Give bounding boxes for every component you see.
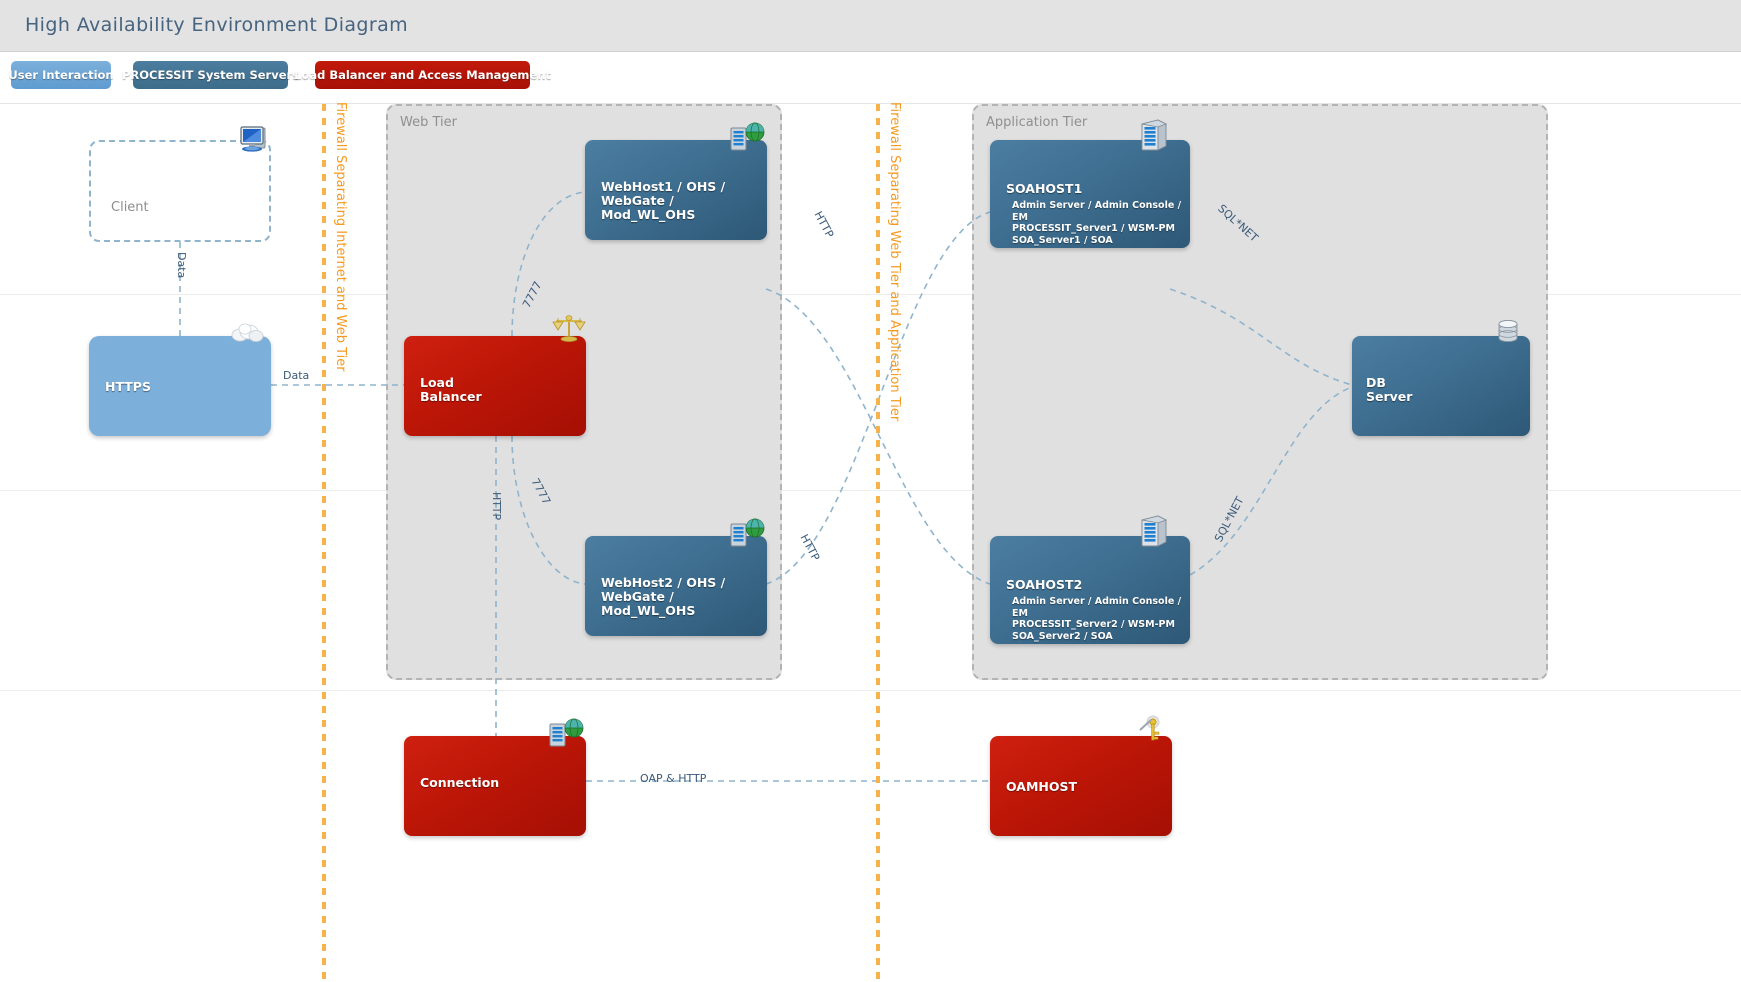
- node-soahost1[interactable]: SOAHOST1 Admin Server / Admin Console / …: [990, 140, 1190, 248]
- web-server-icon: [729, 518, 767, 548]
- database-icon: [1494, 318, 1522, 346]
- node-soahost2-label: SOAHOST2: [1006, 578, 1082, 592]
- legend-item-load-balancer-access-management[interactable]: Load Balancer and Access Management: [315, 61, 530, 89]
- legend-bar: User Interaction PROCESSIT System Server…: [0, 52, 1741, 104]
- server-rack-icon: [1136, 514, 1170, 548]
- cloud-icon: [229, 320, 265, 344]
- desktop-computer-icon: [239, 124, 275, 158]
- legend-item-user-interaction[interactable]: User Interaction: [11, 61, 111, 89]
- client-label: Client: [111, 200, 149, 215]
- node-load-balancer[interactable]: Load Balancer: [404, 336, 586, 436]
- edge-label-lb-to-connection-protocol: HTTP: [490, 492, 503, 520]
- title-bar: High Availability Environment Diagram: [0, 0, 1741, 52]
- node-soahost2[interactable]: SOAHOST2 Admin Server / Admin Console / …: [990, 536, 1190, 644]
- node-connection[interactable]: Connection: [404, 736, 586, 836]
- node-oamhost-label: OAMHOST: [1006, 780, 1077, 794]
- web-server-icon: [548, 718, 586, 748]
- client-box[interactable]: Client: [89, 140, 271, 242]
- diagram-page: High Availability Environment Diagram Us…: [0, 0, 1741, 982]
- node-webhost1[interactable]: WebHost1 / OHS / WebGate / Mod_WL_OHS: [585, 140, 767, 240]
- web-server-icon: [729, 122, 767, 152]
- node-soahost2-services: Admin Server / Admin Console / EM PROCES…: [1012, 596, 1190, 642]
- edge-label-client-to-https: Data: [175, 252, 188, 278]
- page-title: High Availability Environment Diagram: [25, 14, 408, 36]
- diagram-canvas: Web Tier Application Tier: [0, 104, 1741, 982]
- node-https[interactable]: HTTPS: [89, 336, 271, 436]
- firewall-internet-web-tier-label: Firewall Separating Internet and Web Tie…: [333, 102, 348, 372]
- node-soahost1-label: SOAHOST1: [1006, 182, 1082, 196]
- node-https-label: HTTPS: [105, 380, 151, 394]
- node-oamhost[interactable]: OAMHOST: [990, 736, 1172, 836]
- node-soahost1-services: Admin Server / Admin Console / EM PROCES…: [1012, 200, 1190, 246]
- firewall-internet-web-tier-line: [322, 104, 326, 982]
- firewall-web-app-tier-label: Firewall Separating Web Tier and Applica…: [887, 102, 902, 421]
- edge-label-connection-to-oamhost-protocol: OAP & HTTP: [640, 772, 706, 785]
- edge-label-https-to-load-balancer: Data: [283, 369, 309, 382]
- key-icon: [1136, 714, 1166, 744]
- node-db-server-label: DB Server: [1366, 376, 1412, 404]
- legend-item-processit-system-servers[interactable]: PROCESSIT System Servers: [133, 61, 288, 89]
- node-webhost2-label: WebHost2 / OHS / WebGate / Mod_WL_OHS: [601, 576, 767, 618]
- node-webhost1-label: WebHost1 / OHS / WebGate / Mod_WL_OHS: [601, 180, 767, 222]
- node-connection-label: Connection: [420, 776, 499, 790]
- node-webhost2[interactable]: WebHost2 / OHS / WebGate / Mod_WL_OHS: [585, 536, 767, 636]
- node-db-server[interactable]: DB Server: [1352, 336, 1530, 436]
- firewall-web-app-tier-line: [876, 104, 880, 982]
- node-load-balancer-label: Load Balancer: [420, 376, 482, 404]
- scales-balance-icon: [552, 314, 586, 344]
- server-rack-icon: [1136, 118, 1170, 152]
